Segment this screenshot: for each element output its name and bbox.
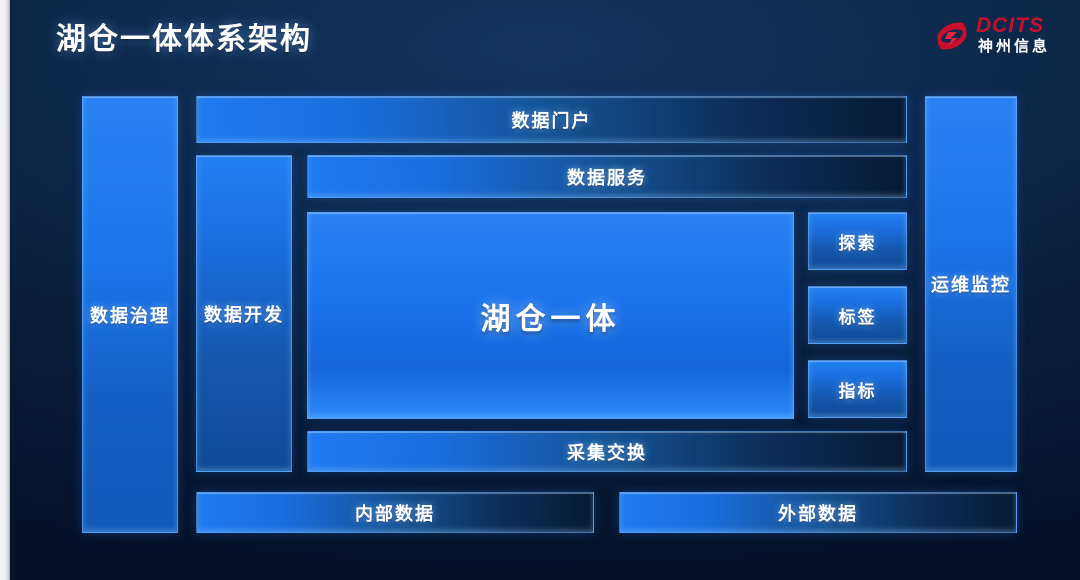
slide-canvas: 湖仓一体体系架构 DCITS 神州信息 数据治理 数据门户 数据开发 数据服务 …	[0, 0, 1080, 580]
slide-left-edge	[0, 0, 10, 580]
bar-data-service-label: 数据服务	[567, 164, 647, 190]
core-lakehouse[interactable]: 湖仓一体	[307, 212, 794, 419]
bar-data-service[interactable]: 数据服务	[307, 155, 907, 198]
brand-logo: DCITS 神州信息	[932, 12, 1060, 64]
pillar-data-governance-label: 数据治理	[90, 302, 170, 328]
module-tags[interactable]: 标签	[808, 286, 907, 344]
core-lakehouse-label: 湖仓一体	[481, 294, 621, 338]
pillar-data-governance[interactable]: 数据治理	[82, 96, 178, 533]
module-metrics-label: 指标	[839, 377, 877, 402]
source-internal-data-label: 内部数据	[355, 500, 435, 526]
pillar-data-development[interactable]: 数据开发	[196, 155, 292, 472]
bar-collect-exchange[interactable]: 采集交换	[307, 431, 907, 472]
module-metrics[interactable]: 指标	[808, 360, 907, 418]
pillar-data-development-label: 数据开发	[204, 301, 284, 327]
source-external-data[interactable]: 外部数据	[619, 492, 1017, 533]
module-tags-label: 标签	[839, 303, 877, 328]
pillar-ops-monitoring[interactable]: 运维监控	[925, 96, 1017, 472]
logo-wordmark: DCITS	[976, 15, 1044, 36]
module-explore[interactable]: 探索	[808, 212, 907, 270]
source-external-data-label: 外部数据	[778, 500, 858, 526]
bar-data-portal-label: 数据门户	[512, 107, 592, 133]
bar-data-portal[interactable]: 数据门户	[196, 96, 907, 143]
module-explore-label: 探索	[839, 229, 877, 254]
pillar-ops-monitoring-label: 运维监控	[931, 271, 1011, 297]
dcits-swirl-icon	[932, 16, 972, 56]
logo-chinese-name: 神州信息	[978, 39, 1050, 54]
source-internal-data[interactable]: 内部数据	[196, 492, 594, 533]
bar-collect-exchange-label: 采集交换	[567, 439, 647, 465]
page-title: 湖仓一体体系架构	[56, 14, 312, 58]
